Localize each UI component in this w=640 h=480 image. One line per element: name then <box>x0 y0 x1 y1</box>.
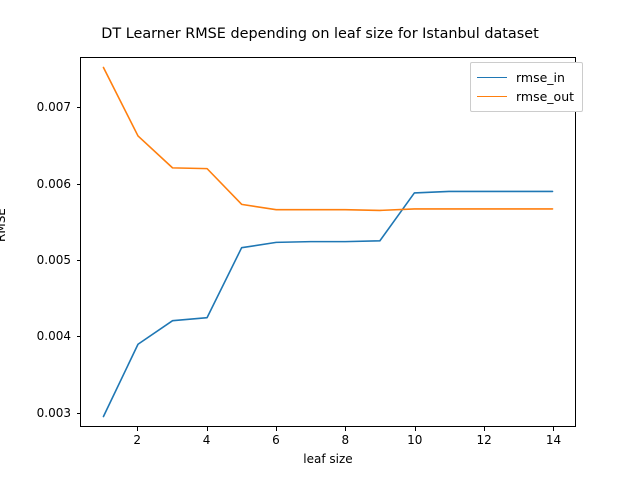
x-tick-mark <box>276 427 277 431</box>
x-tick-label: 10 <box>407 433 422 447</box>
x-tick-mark <box>345 427 346 431</box>
legend-label: rmse_out <box>516 89 574 104</box>
x-tick-label: 14 <box>546 433 561 447</box>
chart-legend: rmse_in rmse_out <box>470 62 583 112</box>
matplotlib-figure: DT Learner RMSE depending on leaf size f… <box>0 0 640 480</box>
x-axis-label: leaf size <box>80 452 576 466</box>
chart-title: DT Learner RMSE depending on leaf size f… <box>0 26 640 42</box>
y-tick-mark <box>77 336 81 337</box>
legend-entry: rmse_out <box>477 87 574 106</box>
legend-swatch-rmse-out <box>477 96 507 97</box>
x-tick-mark <box>484 427 485 431</box>
x-tick-mark <box>137 427 138 431</box>
y-tick-label: 0.003 <box>37 406 71 420</box>
x-tick-mark <box>415 427 416 431</box>
y-tick-mark <box>77 107 81 108</box>
x-tick-mark <box>553 427 554 431</box>
y-tick-label: 0.004 <box>37 329 71 343</box>
plot-area <box>80 57 576 427</box>
y-tick-mark <box>77 260 81 261</box>
legend-label: rmse_in <box>516 70 565 85</box>
line-series-rmse-in <box>103 191 552 416</box>
y-tick-mark <box>77 184 81 185</box>
x-tick-label: 8 <box>342 433 350 447</box>
x-tick-label: 2 <box>133 433 141 447</box>
legend-swatch-rmse-in <box>477 77 507 78</box>
x-tick-mark <box>207 427 208 431</box>
y-tick-label: 0.006 <box>37 177 71 191</box>
y-tick-label: 0.005 <box>37 253 71 267</box>
y-tick-mark <box>77 413 81 414</box>
x-tick-label: 12 <box>476 433 491 447</box>
y-axis-label: RMSE <box>0 208 8 242</box>
x-tick-label: 6 <box>272 433 280 447</box>
legend-entry: rmse_in <box>477 68 574 87</box>
x-tick-label: 4 <box>203 433 211 447</box>
y-tick-label: 0.007 <box>37 100 71 114</box>
plot-lines <box>81 58 575 426</box>
